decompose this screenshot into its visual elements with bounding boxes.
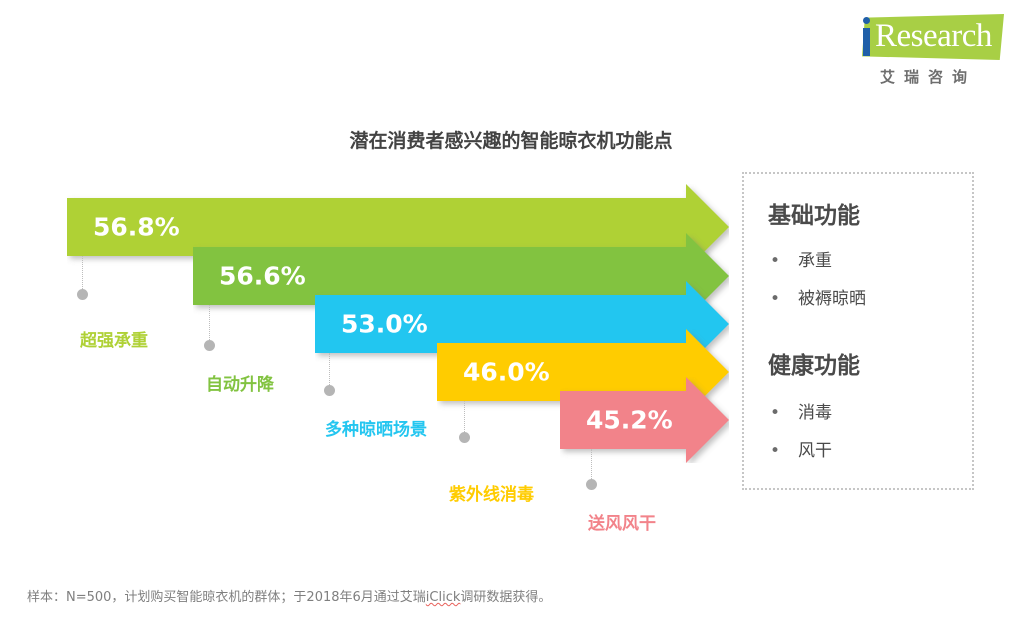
panel-list-item: •被褥晾晒 (770, 284, 866, 309)
logo-chinese-name: 艾瑞咨询 (880, 66, 976, 87)
panel-list-item: •风干 (770, 436, 832, 461)
bar-value-label: 56.8% (93, 213, 180, 242)
footnote-marked-term: iClick (426, 590, 461, 605)
panel-item-text: 承重 (798, 251, 832, 271)
leader-line (209, 305, 210, 342)
category-label: 自动升降 (206, 370, 274, 395)
category-label: 紫外线消毒 (449, 480, 534, 505)
bar-value-label: 53.0% (341, 310, 428, 339)
panel-group-heading: 基础功能 (768, 196, 860, 230)
arrow-bar: 56.6% (193, 233, 729, 319)
arrow-shape-5 (560, 377, 729, 463)
bar-value-label: 46.0% (463, 358, 550, 387)
arrow-shape-4 (437, 329, 729, 415)
arrow-bar: 53.0% (315, 281, 729, 367)
arrow-shape-1 (67, 184, 729, 270)
panel-item-text: 被褥晾晒 (798, 289, 866, 309)
leader-line (464, 401, 465, 434)
leader-dot-icon (77, 289, 88, 300)
leader-line (82, 256, 83, 291)
footnote-prefix: 样本：N=500，计划购买智能晾衣机的群体；于2018年6月通过艾瑞 (27, 590, 426, 605)
category-label: 多种晾晒场景 (325, 415, 427, 440)
leader-dot-icon (204, 340, 215, 351)
panel-list-item: •承重 (770, 246, 832, 271)
bullet-icon: • (770, 441, 798, 461)
leader-line (329, 353, 330, 387)
leader-dot-icon (324, 385, 335, 396)
bullet-icon: • (770, 403, 798, 423)
page-title: 潜在消费者感兴趣的智能晾衣机功能点 (0, 126, 1022, 153)
category-label: 送风风干 (588, 509, 656, 534)
arrow-bar: 45.2% (560, 377, 729, 463)
leader-dot-icon (459, 432, 470, 443)
arrow-shape-2 (193, 233, 729, 319)
leader-line (591, 449, 592, 481)
bullet-icon: • (770, 289, 798, 309)
arrow-shape-3 (315, 281, 729, 367)
panel-item-text: 消毒 (798, 403, 832, 423)
arrow-bar: 56.8% (67, 184, 729, 270)
bullet-icon: • (770, 251, 798, 271)
logo-wordmark: Research (875, 17, 992, 55)
logo-i-dot-icon (863, 17, 870, 24)
logo-mark: Research (844, 10, 1004, 62)
iresearch-logo: Research 艾瑞咨询 (844, 10, 1004, 92)
category-label: 超强承重 (80, 326, 148, 351)
bar-value-label: 56.6% (219, 262, 306, 291)
arrow-bar: 46.0% (437, 329, 729, 415)
logo-i-stem-icon (863, 28, 870, 56)
bar-value-label: 45.2% (586, 406, 673, 435)
function-groups-panel: 基础功能•承重•被褥晾晒健康功能•消毒•风干 (742, 172, 974, 490)
slide-canvas: Research 艾瑞咨询 潜在消费者感兴趣的智能晾衣机功能点 56.8%超强承… (0, 0, 1022, 636)
panel-list-item: •消毒 (770, 398, 832, 423)
panel-item-text: 风干 (798, 441, 832, 461)
leader-dot-icon (586, 479, 597, 490)
footnote-suffix: 调研数据获得。 (460, 590, 551, 605)
panel-group-heading: 健康功能 (768, 346, 860, 380)
source-footnote: 样本：N=500，计划购买智能晾衣机的群体；于2018年6月通过艾瑞iClick… (27, 586, 551, 605)
